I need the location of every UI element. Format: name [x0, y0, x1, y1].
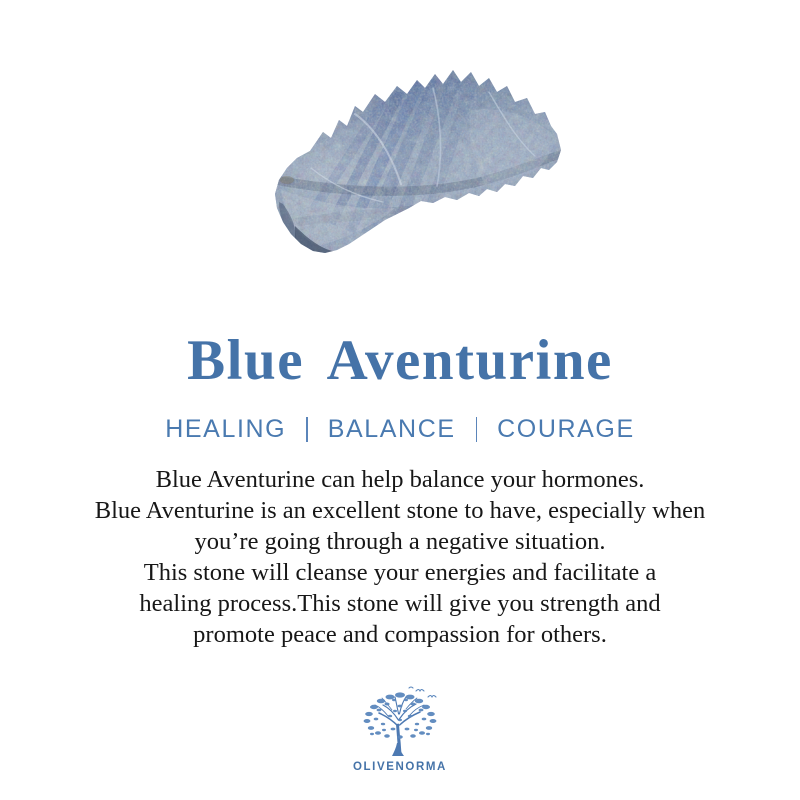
keyword-separator-icon — [306, 417, 308, 442]
keyword-healing: HEALING — [165, 417, 286, 442]
keyword-list: HEALING BALANCE COURAGE — [165, 417, 635, 442]
brand-logo: OLIVENORMA — [346, 686, 454, 774]
description-line: This stone will cleanse your energies an… — [30, 557, 770, 588]
blue-aventurine-rough-stone-icon — [235, 58, 565, 268]
brand-wordmark: OLIVENORMA — [353, 762, 447, 774]
keyword-courage: COURAGE — [497, 417, 635, 442]
page-title: Blue Aventurine — [187, 332, 613, 389]
crystal-info-card: Blue Aventurine HEALING BALANCE COURAGE … — [0, 0, 800, 800]
keyword-balance: BALANCE — [328, 417, 456, 442]
stone-image — [235, 58, 565, 268]
description-text: Blue Aventurine can help balance your ho… — [30, 464, 770, 650]
description-line: you’re going through a negative situatio… — [30, 526, 770, 557]
keyword-separator-icon — [476, 417, 478, 442]
olive-tree-icon — [354, 686, 446, 758]
description-line: promote peace and compassion for others. — [30, 619, 770, 650]
description-line: Blue Aventurine can help balance your ho… — [30, 464, 770, 495]
description-line: Blue Aventurine is an excellent stone to… — [30, 495, 770, 526]
description-line: healing process.This stone will give you… — [30, 588, 770, 619]
